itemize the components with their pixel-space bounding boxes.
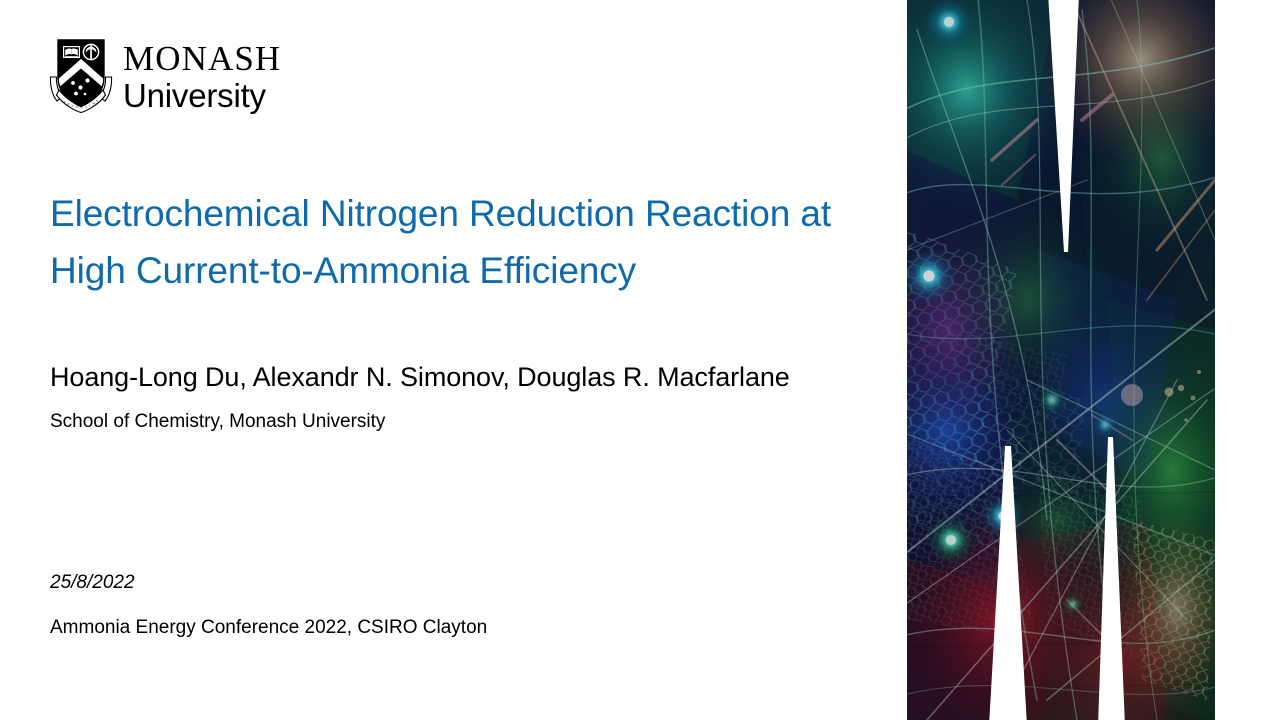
event-line: Ammonia Energy Conference 2022, CSIRO Cl… — [50, 616, 487, 641]
slide-canvas: A N C O R A I M P MONASH University Elec… — [0, 0, 1280, 720]
monash-logo: A N C O R A I M P MONASH University — [49, 37, 281, 115]
author-list: Hoang-Long Du, Alexandr N. Simonov, Doug… — [50, 360, 910, 395]
monash-shield-crest-icon: A N C O R A I M P — [49, 37, 113, 115]
monash-wordmark: MONASH University — [123, 37, 281, 115]
wordmark-university: University — [123, 78, 281, 115]
slide-title: Electrochemical Nitrogen Reduction React… — [50, 186, 900, 299]
wordmark-monash: MONASH — [123, 41, 281, 77]
svg-text:R: R — [81, 105, 83, 109]
monash-m-monogram-image — [907, 0, 1215, 720]
affiliation-line: School of Chemistry, Monash University — [50, 410, 910, 435]
presentation-date: 25/8/2022 — [50, 571, 135, 596]
decor-artwork-svg — [907, 0, 1215, 720]
